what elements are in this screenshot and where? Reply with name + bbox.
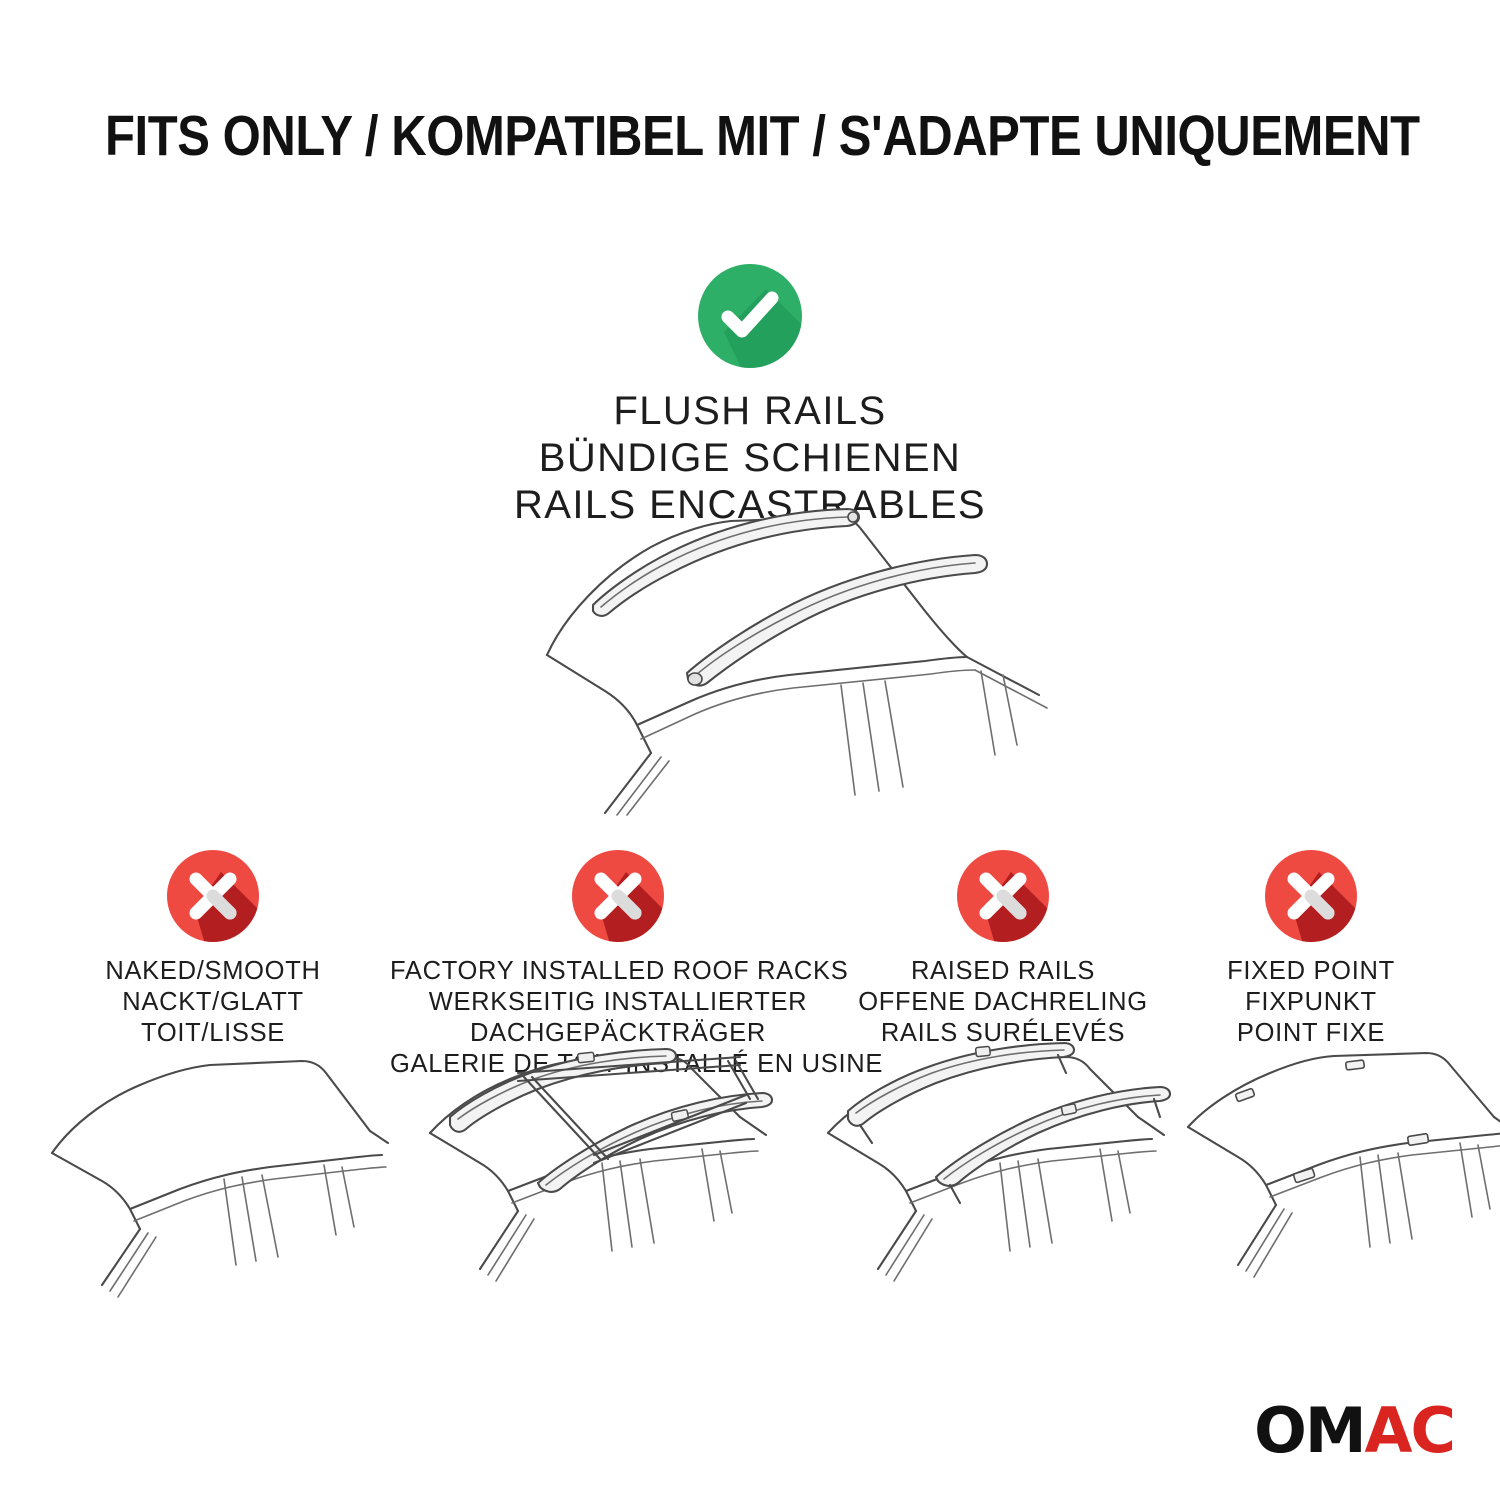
incompatible-label-fr: RAILS SURÉLEVÉS [838,1018,1168,1049]
x-circle-icon [955,848,1051,944]
incompatible-label-fr: TOIT/LISSE [48,1018,378,1049]
compatible-label-de: BÜNDIGE SCHIENEN [0,435,1500,482]
incompatible-label-en: RAISED RAILS [838,956,1168,987]
incompatible-label-en: FACTORY INSTALLED ROOF RACKS [390,956,846,987]
incompatible-column-raised-rails: RAISED RAILS OFFENE DACHRELING RAILS SUR… [838,848,1168,1049]
incompatible-labels: RAISED RAILS OFFENE DACHRELING RAILS SUR… [838,956,1168,1049]
incompatible-column-factory-racks: FACTORY INSTALLED ROOF RACKS WERKSEITIG … [390,848,846,1080]
car-roof-raised-rails-illustration [808,1055,1183,1305]
incompatible-label-fr: POINT FIXE [1176,1018,1446,1049]
x-circle-icon [1263,848,1359,944]
incompatible-label-de: NACKT/GLATT [48,987,378,1018]
incompatible-labels: NAKED/SMOOTH NACKT/GLATT TOIT/LISSE [48,956,378,1049]
omac-logo-red-part: AC [1365,1400,1454,1462]
car-roof-naked-illustration [40,1055,390,1305]
omac-logo: OMAC [1254,1400,1454,1462]
compatible-label-en: FLUSH RAILS [0,388,1500,435]
incompatible-label-en: FIXED POINT [1176,956,1446,987]
car-roof-fixed-point-illustration [1178,1055,1500,1305]
incompatible-label-de: OFFENE DACHRELING [838,987,1168,1018]
omac-logo-dark-part: OM [1254,1400,1364,1462]
incompatible-column-fixed-point: FIXED POINT FIXPUNKT POINT FIXE [1176,848,1446,1049]
incompatible-label-de: FIXPUNKT [1176,987,1446,1018]
incompatible-labels: FIXED POINT FIXPUNKT POINT FIXE [1176,956,1446,1049]
incompatible-column-naked-smooth: NAKED/SMOOTH NACKT/GLATT TOIT/LISSE [48,848,378,1049]
car-roof-flush-rails-illustration [455,495,1075,815]
compatible-section: FLUSH RAILS BÜNDIGE SCHIENEN RAILS ENCAS… [0,262,1500,528]
car-roof-factory-racks-illustration [410,1055,785,1305]
incompatible-label-en: NAKED/SMOOTH [48,956,378,987]
x-circle-icon [570,848,666,944]
page-title: FITS ONLY / KOMPATIBEL MIT / S'ADAPTE UN… [105,103,1395,169]
check-circle-icon [696,262,804,370]
incompatible-label-de-1: WERKSEITIG INSTALLIERTER [390,987,846,1018]
incompatible-label-de-2: DACHGEPÄCKTRÄGER [390,1018,846,1049]
x-circle-icon [165,848,261,944]
